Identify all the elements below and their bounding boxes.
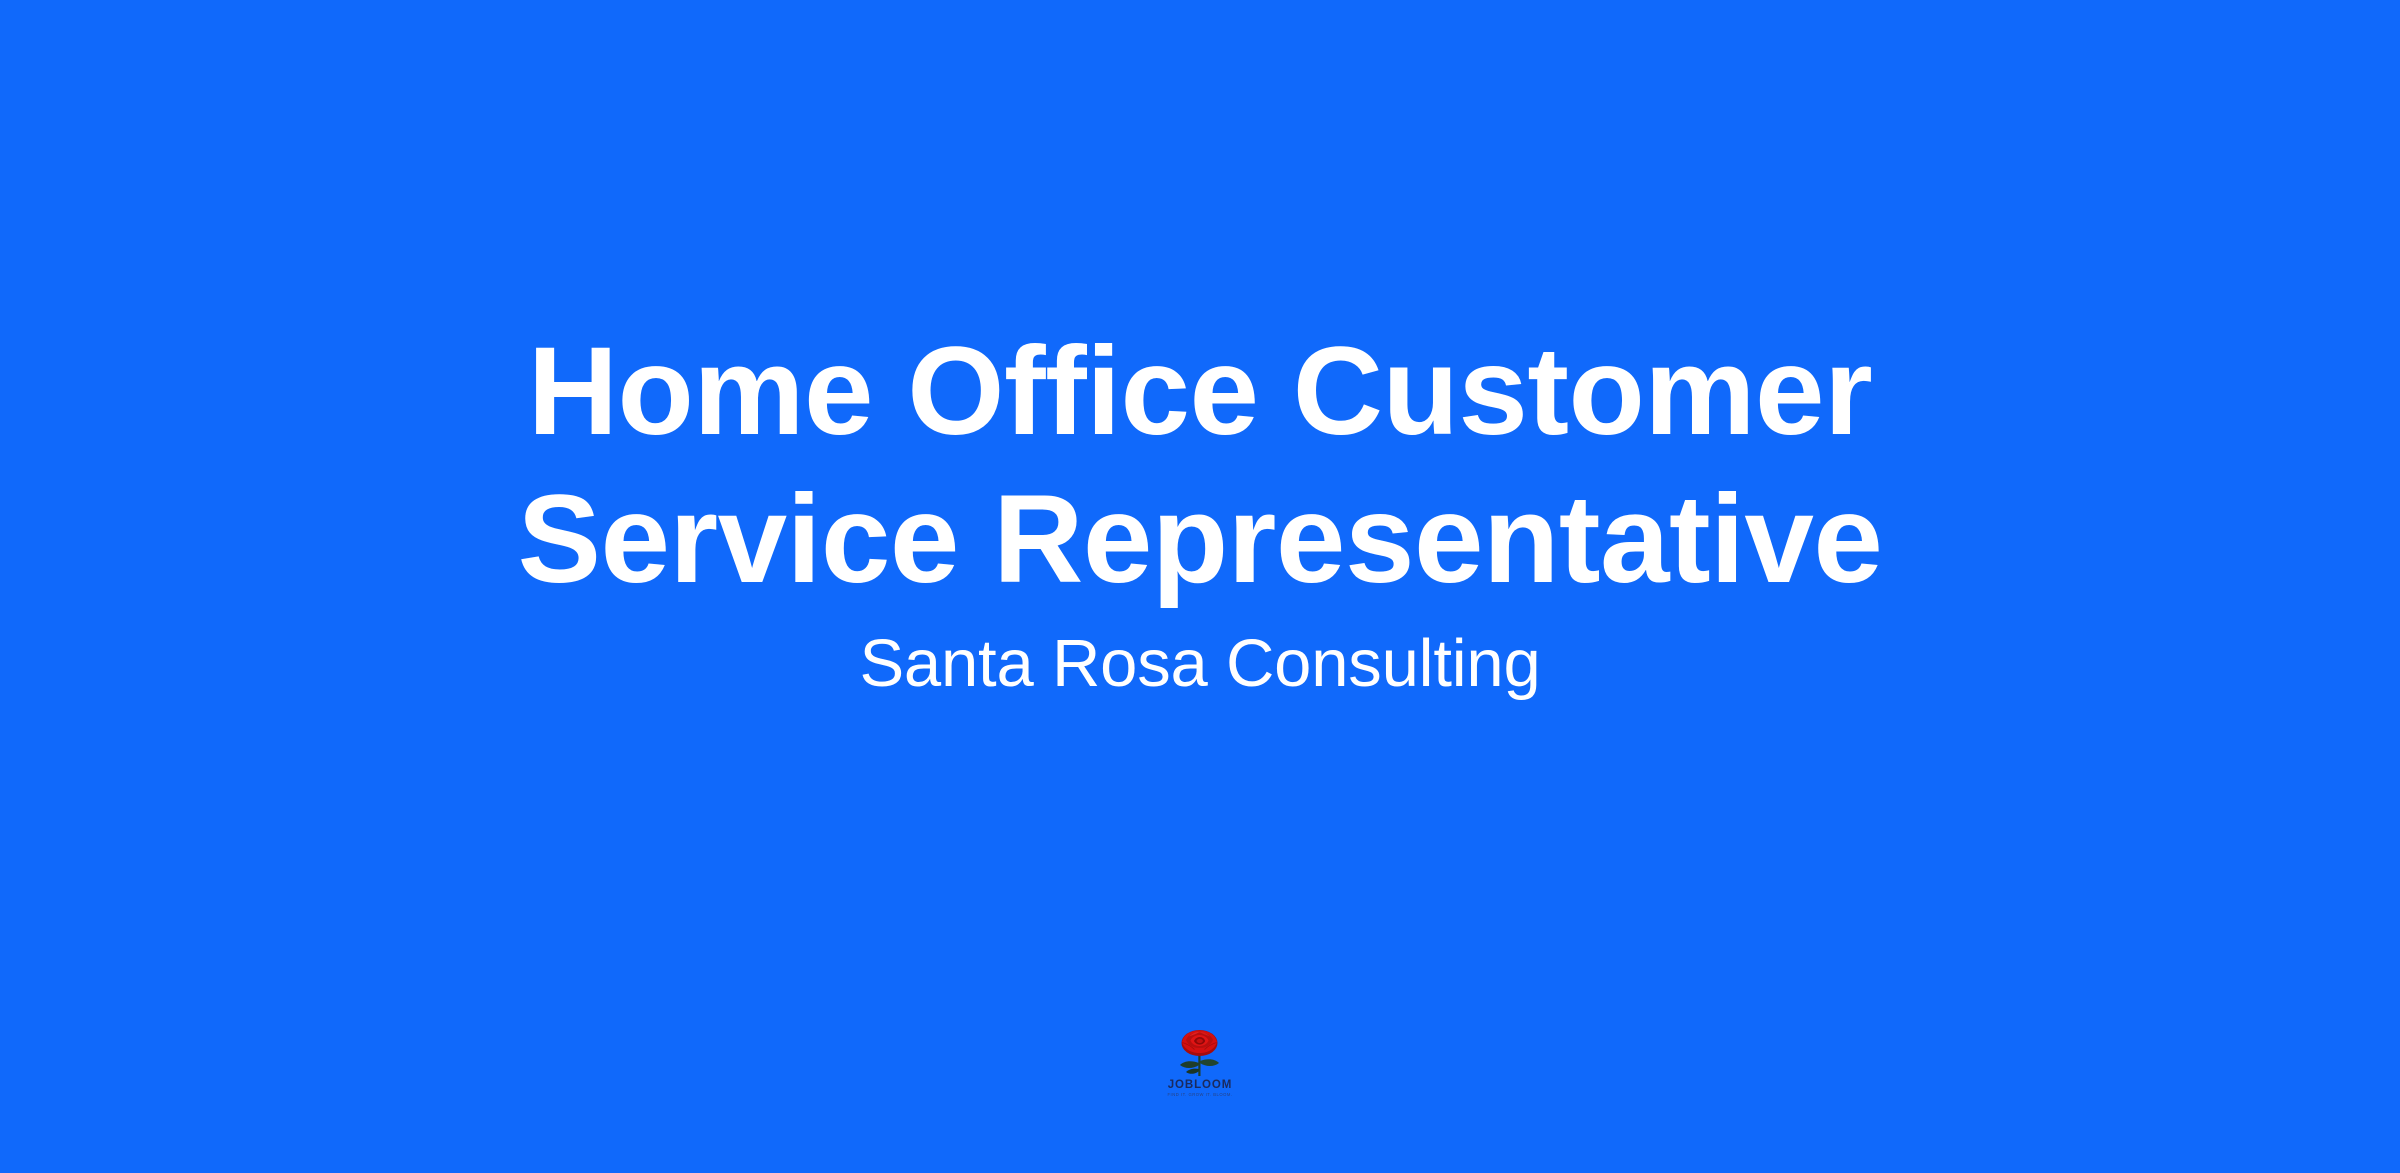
jobloom-logo: JOBLOOM FIND IT. GROW IT. BLOOM. bbox=[1160, 1030, 1240, 1097]
title-block: Home Office Customer Service Representat… bbox=[0, 318, 2400, 706]
page-title: Home Office Customer Service Representat… bbox=[340, 318, 2060, 614]
rose-icon bbox=[1169, 1030, 1231, 1078]
logo-tagline: FIND IT. GROW IT. BLOOM. bbox=[1167, 1092, 1232, 1097]
logo-wordmark: JOBLOOM bbox=[1168, 1079, 1232, 1091]
company-name: Santa Rosa Consulting bbox=[859, 622, 1540, 706]
job-posting-slide: Home Office Customer Service Representat… bbox=[0, 0, 2400, 1173]
